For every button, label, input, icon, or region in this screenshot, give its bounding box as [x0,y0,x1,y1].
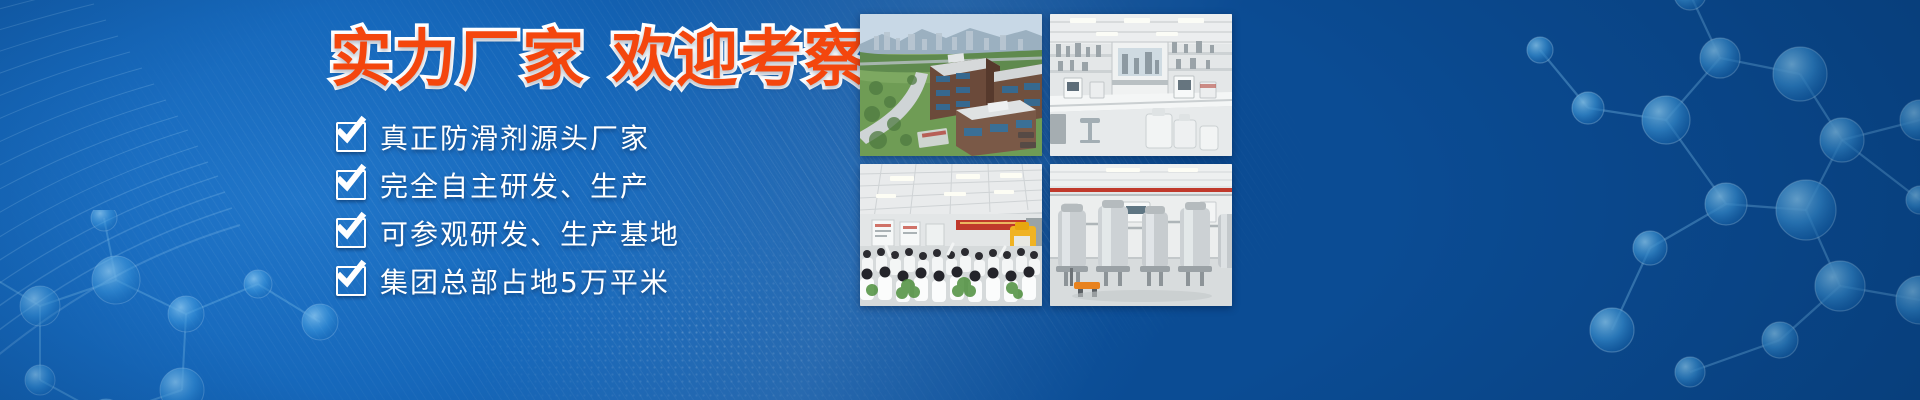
list-item-label: 可参观研发、生产基地 [380,213,680,253]
photo-assembly-hall-workers [860,164,1042,306]
photo-aerial-factory-campus [860,14,1042,156]
checkbox-checked-icon [336,122,366,152]
headline-part-1: 实力厂家 [330,22,586,95]
feature-list: 真正防滑剂源头厂家 完全自主研发、生产 可参观研发、生产基地 集团总部占地5万平… [336,116,756,301]
list-item-label: 集团总部占地5万平米 [380,261,670,301]
photo-production-equipment-room [1050,164,1232,306]
photo-laboratory [1050,14,1232,156]
banner-headline: 实力厂家欢迎考察 [330,24,850,93]
promo-banner: 实力厂家欢迎考察 真正防滑剂源头厂家 完全自主研发、生产 可参观研发、生产基地 [0,0,1920,400]
list-item: 集团总部占地5万平米 [336,260,756,301]
list-item: 真正防滑剂源头厂家 [336,116,756,157]
list-item: 可参观研发、生产基地 [336,212,756,253]
checkbox-checked-icon [336,218,366,248]
list-item: 完全自主研发、生产 [336,164,756,205]
checkbox-checked-icon [336,266,366,296]
photo-grid [860,14,1232,306]
checkbox-checked-icon [336,170,366,200]
list-item-label: 完全自主研发、生产 [380,165,650,205]
list-item-label: 真正防滑剂源头厂家 [380,117,650,157]
headline-part-2: 欢迎考察 [612,22,868,95]
molecule-icon [1220,0,1920,400]
